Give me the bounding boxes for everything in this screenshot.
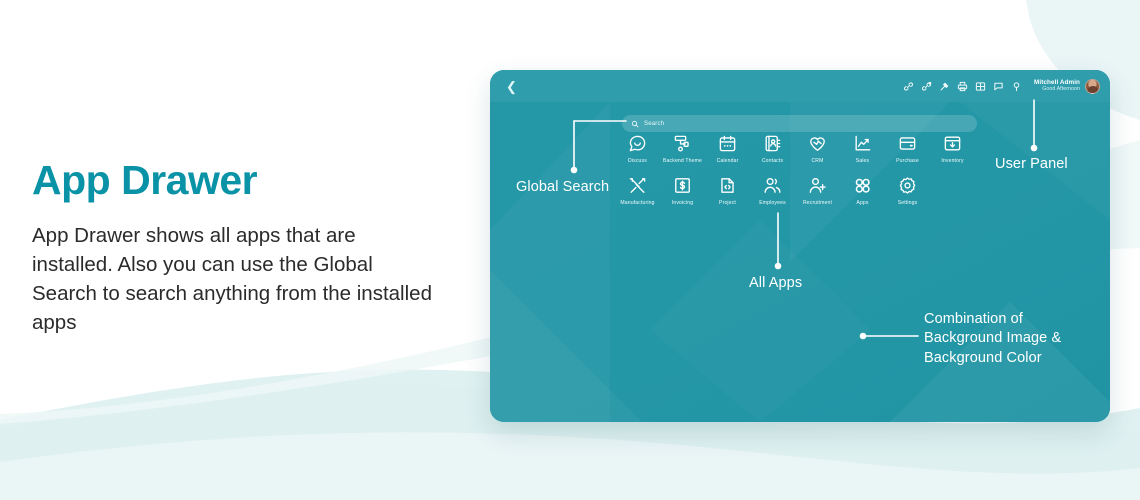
links-badge-icon[interactable]: [921, 81, 932, 92]
annotation-user-panel: User Panel: [995, 155, 1068, 174]
app-label: Employees: [759, 200, 786, 206]
page-title: App Drawer: [32, 160, 432, 201]
app-label: Purchase: [896, 158, 919, 164]
app-label: Manufacturing: [620, 200, 654, 206]
page-description: App Drawer shows all apps that are insta…: [32, 221, 432, 337]
app-apps[interactable]: Apps: [840, 176, 885, 206]
app-row-1: Discuss Backend Theme: [615, 134, 985, 164]
app-label: Sales: [856, 158, 870, 164]
intro-copy: App Drawer App Drawer shows all apps tha…: [32, 160, 432, 337]
topbar-icon-group: Mitchell Admin Good Afternoon: [903, 79, 1100, 94]
app-label: Calendar: [717, 158, 739, 164]
drawer-topbar: ❮ Mitc: [490, 70, 1110, 102]
user-greeting: Good Afternoon: [1034, 87, 1080, 93]
chevron-left-icon[interactable]: ❮: [506, 80, 517, 93]
sales-icon: [853, 134, 872, 153]
app-employees[interactable]: Employees: [750, 176, 795, 206]
app-inventory[interactable]: Inventory: [930, 134, 975, 164]
invoicing-icon: [673, 176, 692, 195]
search-placeholder: Search: [644, 121, 664, 127]
app-label: Contacts: [762, 158, 783, 164]
annotation-all-apps: All Apps: [749, 274, 802, 293]
discuss-icon: [628, 134, 647, 153]
app-discuss[interactable]: Discuss: [615, 134, 660, 164]
app-invoicing[interactable]: Invoicing: [660, 176, 705, 206]
calendar-icon: [718, 134, 737, 153]
app-label: Invoicing: [672, 200, 693, 206]
grid-icon[interactable]: [975, 81, 986, 92]
inventory-icon: [943, 134, 962, 153]
search-input[interactable]: Search: [622, 115, 977, 132]
contacts-icon: [763, 134, 782, 153]
app-label: Project: [719, 200, 736, 206]
backend-theme-icon: [673, 134, 692, 153]
app-contacts[interactable]: Contacts: [750, 134, 795, 164]
user-text: Mitchell Admin Good Afternoon: [1034, 79, 1080, 92]
messages-icon[interactable]: [993, 81, 1004, 92]
recruitment-icon: [808, 176, 827, 195]
app-sales[interactable]: Sales: [840, 134, 885, 164]
app-label: Discuss: [628, 158, 647, 164]
search-icon: [631, 120, 639, 128]
app-purchase[interactable]: Purchase: [885, 134, 930, 164]
user-panel[interactable]: Mitchell Admin Good Afternoon: [1034, 79, 1100, 94]
annotation-background-combo: Combination of Background Image & Backgr…: [924, 310, 1061, 368]
link-icon[interactable]: [903, 81, 914, 92]
app-label: Inventory: [941, 158, 963, 164]
print-icon[interactable]: [957, 81, 968, 92]
crm-icon: [808, 134, 827, 153]
app-project[interactable]: Project: [705, 176, 750, 206]
app-calendar[interactable]: Calendar: [705, 134, 750, 164]
app-recruitment[interactable]: Recruitment: [795, 176, 840, 206]
manufacturing-icon: [628, 176, 647, 195]
project-icon: [718, 176, 737, 195]
app-manufacturing[interactable]: Manufacturing: [615, 176, 660, 206]
app-backend-theme[interactable]: Backend Theme: [660, 134, 705, 164]
app-label: Apps: [856, 200, 868, 206]
employees-icon: [763, 176, 782, 195]
app-label: Settings: [898, 200, 918, 206]
app-label: CRM: [811, 158, 823, 164]
app-cell-empty: [930, 176, 975, 206]
settings-icon: [898, 176, 917, 195]
apps-icon: [853, 176, 872, 195]
app-label: Backend Theme: [663, 158, 702, 164]
annotation-global-search: Global Search: [516, 178, 609, 197]
app-row-2: Manufacturing Invoicing Project: [615, 176, 985, 206]
activity-icon[interactable]: [1011, 81, 1022, 92]
app-settings[interactable]: Settings: [885, 176, 930, 206]
bug-icon[interactable]: [939, 81, 950, 92]
purchase-icon: [898, 134, 917, 153]
app-label: Recruitment: [803, 200, 832, 206]
app-drawer-panel: ❮ Mitc: [490, 70, 1110, 422]
app-crm[interactable]: CRM: [795, 134, 840, 164]
app-grid: Discuss Backend Theme: [615, 134, 985, 206]
avatar[interactable]: [1085, 79, 1100, 94]
